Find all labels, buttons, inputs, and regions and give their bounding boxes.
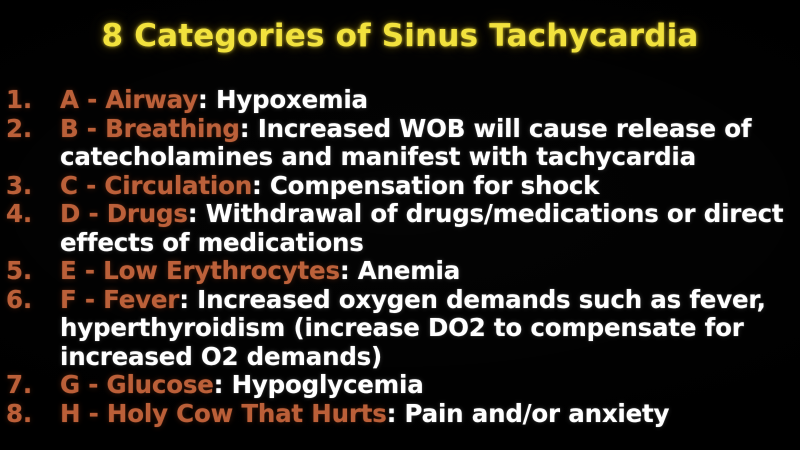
list-item-definition: Pain and/or anxiety	[405, 399, 670, 428]
list-item-number: 5.	[6, 257, 50, 286]
list-item-definition: Compensation for shock	[270, 171, 599, 200]
list-item-definition: Anemia	[358, 256, 460, 285]
slide-canvas: 8 Categories of Sinus Tachycardia 1.A - …	[0, 0, 800, 450]
list-item-definition: Hypoxemia	[216, 85, 368, 114]
list-item-separator: :	[252, 171, 262, 200]
list-item-separator: :	[387, 399, 397, 428]
list-item: 5.E - Low Erythrocytes: Anemia	[0, 257, 800, 286]
list-item-label: C - Circulation	[60, 171, 252, 200]
list-item-label: A - Airway	[60, 85, 198, 114]
categories-list: 1.A - Airway: Hypoxemia 2.B - Breathing:…	[0, 86, 800, 428]
list-item-label: G - Glucose	[60, 370, 214, 399]
list-item-label: F - Fever	[60, 285, 179, 314]
list-item: 8.H - Holy Cow That Hurts: Pain and/or a…	[0, 400, 800, 429]
list-item-number: 1.	[6, 86, 50, 115]
list-item-label: H - Holy Cow That Hurts	[60, 399, 387, 428]
list-item-separator: :	[188, 199, 198, 228]
list-item-number: 3.	[6, 172, 50, 201]
list-item-number: 2.	[6, 115, 50, 144]
list-item: 4.D - Drugs: Withdrawal of drugs/medicat…	[0, 200, 800, 257]
page-title: 8 Categories of Sinus Tachycardia	[0, 18, 800, 54]
list-item: 2.B - Breathing: Increased WOB will caus…	[0, 115, 800, 172]
list-item-definition: Hypoglycemia	[232, 370, 424, 399]
list-item-separator: :	[179, 285, 189, 314]
list-item-label: D - Drugs	[60, 199, 188, 228]
list-item-separator: :	[340, 256, 350, 285]
list-item: 7.G - Glucose: Hypoglycemia	[0, 371, 800, 400]
list-item-label: E - Low Erythrocytes	[60, 256, 340, 285]
list-item-number: 6.	[6, 286, 50, 315]
list-item-separator: :	[198, 85, 208, 114]
list-item-number: 4.	[6, 200, 50, 229]
list-item: 3.C - Circulation: Compensation for shoc…	[0, 172, 800, 201]
list-item: 6.F - Fever: Increased oxygen demands su…	[0, 286, 800, 372]
list-item-number: 7.	[6, 371, 50, 400]
list-item-number: 8.	[6, 400, 50, 429]
list-item-label: B - Breathing	[60, 114, 240, 143]
list-item: 1.A - Airway: Hypoxemia	[0, 86, 800, 115]
list-item-separator: :	[214, 370, 224, 399]
list-item-separator: :	[240, 114, 250, 143]
